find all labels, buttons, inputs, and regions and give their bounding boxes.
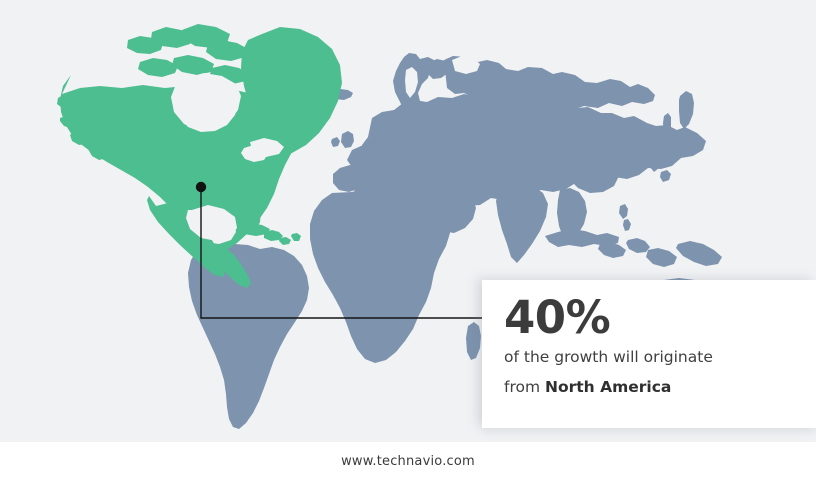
source-url: www.technavio.com — [341, 454, 475, 469]
stat-percent-value: 40% — [504, 294, 794, 342]
stat-description-line-2: from North America — [504, 372, 794, 402]
infographic-page: 40% of the growth will originate from No… — [0, 0, 816, 480]
stat-region-name: North America — [545, 378, 671, 396]
stat-description-line-1: of the growth will originate — [504, 342, 794, 372]
stat-description-prefix: from — [504, 378, 545, 396]
footer-bar: www.technavio.com — [0, 442, 816, 480]
stat-callout-card: 40% of the growth will originate from No… — [482, 280, 816, 428]
